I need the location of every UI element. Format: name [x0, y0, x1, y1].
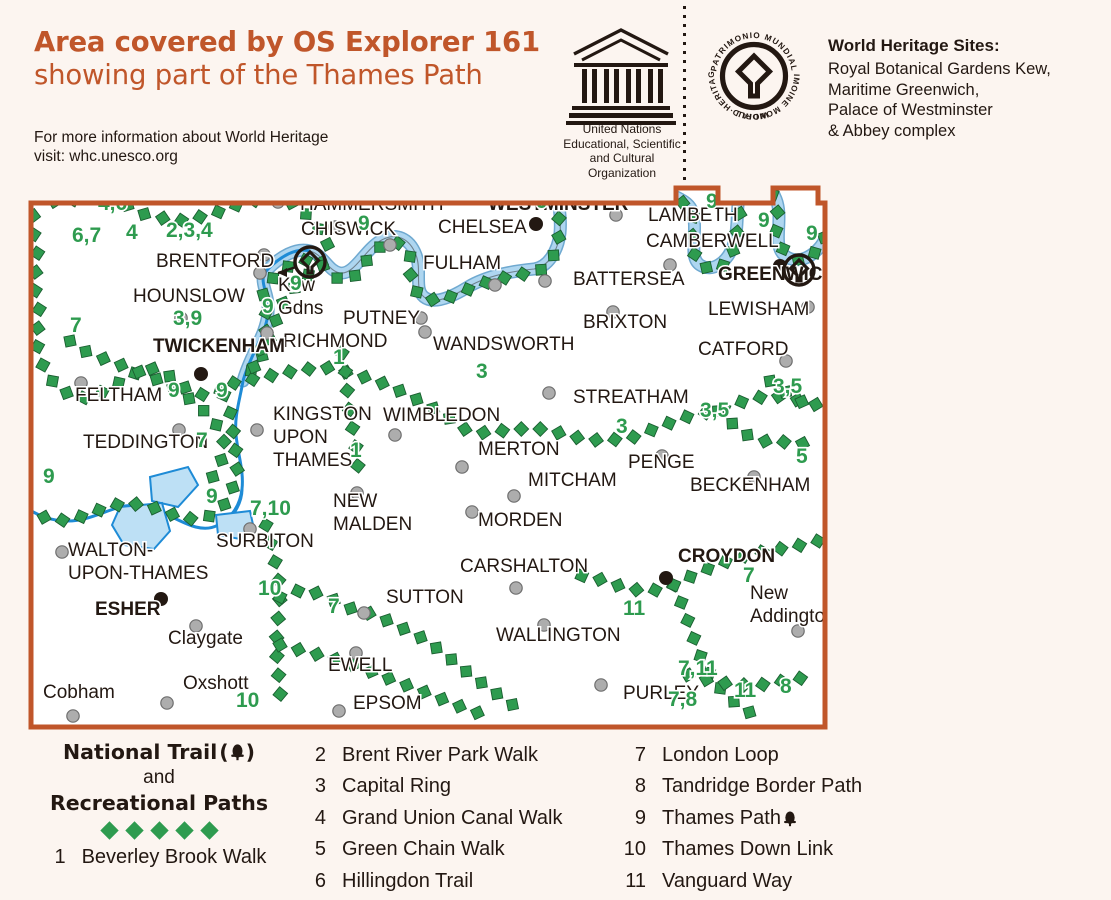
acorn-icon	[783, 810, 797, 828]
path-number-label: 9	[216, 379, 228, 402]
path-diamond	[332, 273, 342, 283]
map-legend: National Trail ( ) and Recreational Path…	[0, 736, 1111, 900]
place-label: PENGE	[628, 452, 695, 473]
path-diamond	[700, 261, 712, 273]
town-dot	[419, 326, 431, 338]
path-number-label: 7,8	[668, 688, 698, 711]
place-label: MORDEN	[478, 510, 562, 531]
place-label: Claygate	[168, 628, 243, 649]
legend-item-9[interactable]: 9Thames Path	[620, 803, 940, 834]
legend-item-number: 9	[620, 803, 646, 834]
path-diamond	[150, 373, 163, 386]
legend-column-2: 2Brent River Park Walk3Capital Ring4Gran…	[300, 740, 600, 897]
legend-item-label: Grand Union Canal Walk	[342, 803, 562, 834]
path-diamond	[742, 429, 754, 441]
legend-item-number: 5	[300, 834, 326, 865]
town-dot	[539, 275, 551, 287]
path-number-label: 7,10	[250, 497, 291, 520]
path-number-label: 11	[623, 597, 646, 620]
whs-site-1: Royal Botanical Gardens Kew,	[828, 59, 1100, 80]
path-number-label: 9	[168, 379, 180, 402]
path-number-label: 7	[328, 595, 340, 618]
town-dot	[384, 239, 396, 251]
place-label: SUTTON	[386, 587, 464, 608]
path-diamond	[491, 688, 503, 700]
town-dot	[161, 697, 173, 709]
header: Area covered by OS Explorer 161 showing …	[0, 0, 1111, 180]
world-heritage-sites-block: World Heritage Sites: Royal Botanical Ga…	[828, 36, 1100, 141]
path-diamond	[460, 666, 471, 677]
place-label: FELTHAM	[75, 385, 162, 406]
path-number-label: 5	[796, 445, 808, 468]
path-number-label: 9	[43, 465, 55, 488]
legend-item-number: 1	[52, 846, 66, 869]
place-label: BATTERSEA	[573, 269, 685, 290]
place-label: HOUNSLOW	[133, 286, 245, 307]
legend-item-number: 11	[620, 866, 646, 897]
legend-item-10[interactable]: 10Thames Down Link	[620, 834, 940, 865]
legend-item-2[interactable]: 2Brent River Park Walk	[300, 740, 600, 771]
legend-path-swatch	[28, 822, 290, 838]
path-number-label: 9	[262, 295, 274, 318]
legend-and-label: and	[28, 765, 290, 791]
place-label: CARSHALTON	[460, 556, 588, 577]
legend-item-label: London Loop	[662, 740, 779, 771]
place-label: SURBITON	[216, 531, 314, 552]
path-number-label: 3,5	[700, 399, 730, 422]
place-label: CROYDON	[678, 546, 775, 567]
path-diamond	[203, 510, 215, 522]
path-number-label: 6,7	[72, 224, 101, 247]
path-diamond	[349, 270, 361, 282]
place-label: UPON	[273, 427, 328, 448]
path-number-label: 9	[358, 212, 370, 235]
place-label: NEW	[333, 491, 377, 512]
path-diamond	[551, 185, 566, 188]
path-number-label: 7	[70, 314, 82, 337]
place-label: ESHER	[95, 599, 161, 620]
whs-site-4: & Abbey complex	[828, 121, 1100, 142]
map-panel: HAMMERSMITHCHISWICKCHELSEALAMBETHCAMBERW…	[28, 185, 828, 730]
legend-item-label: Capital Ring	[342, 771, 451, 802]
path-number-label: 2,3,4	[166, 219, 213, 242]
path-diamond	[739, 190, 749, 200]
page-title: Area covered by OS Explorer 161 showing …	[34, 26, 554, 92]
path-diamond	[80, 345, 92, 357]
path-number-label: 7,11	[678, 657, 718, 680]
path-number-label: 9	[290, 272, 302, 295]
place-label: EPSOM	[353, 693, 422, 714]
path-number-label: 3,9	[173, 307, 202, 330]
whs-heading: World Heritage Sites:	[828, 36, 1100, 56]
town-dot	[67, 710, 79, 722]
town-dot	[489, 279, 501, 291]
legend-item-7[interactable]: 7London Loop	[620, 740, 940, 771]
unesco-caption: United Nations Educational, Scientific a…	[560, 122, 684, 180]
title-line-2: showing part of the Thames Path	[34, 58, 554, 92]
legend-item-number: 8	[620, 771, 646, 802]
legend-diamond	[100, 821, 118, 839]
legend-item-number: 3	[300, 771, 326, 802]
legend-item-1[interactable]: 1 Beverley Brook Walk	[28, 846, 290, 869]
path-diamond	[84, 188, 98, 202]
path-diamond	[430, 642, 442, 654]
place-label: PUTNEY	[343, 308, 420, 329]
legend-diamond	[175, 821, 193, 839]
legend-item-4[interactable]: 4Grand Union Canal Walk	[300, 803, 600, 834]
town-dot	[333, 705, 345, 717]
legend-item-11[interactable]: 11Vanguard Way	[620, 866, 940, 897]
path-number-label: 8	[780, 675, 792, 698]
path-diamond	[743, 706, 756, 719]
place-label: BRENTFORD	[156, 251, 274, 272]
town-dot	[595, 679, 607, 691]
place-label: CHISWICK	[301, 219, 396, 240]
path-diamond	[410, 393, 423, 406]
path-number-label: 9	[206, 485, 218, 508]
legend-item-label: Thames Path	[662, 803, 797, 834]
place-label: LEWISHAM	[708, 299, 809, 320]
legend-item-6[interactable]: 6Hillingdon Trail	[300, 866, 600, 897]
path-number-label: 1	[350, 439, 362, 462]
path-diamond	[446, 654, 457, 665]
legend-item-label: Beverley Brook Walk	[82, 846, 267, 869]
place-label: EWELL	[328, 655, 392, 676]
legend-item-number: 7	[620, 740, 646, 771]
whs-site-3: Palace of Westminster	[828, 100, 1100, 121]
path-number-label: 10	[236, 689, 259, 712]
major-town-dot	[659, 571, 673, 585]
path-number-label: 3	[616, 415, 628, 438]
path-diamond	[536, 264, 547, 275]
legend-diamond	[150, 821, 168, 839]
town-dot	[510, 582, 522, 594]
path-diamond	[183, 393, 195, 405]
legend-item-5[interactable]: 5Green Chain Walk	[300, 834, 600, 865]
legend-item-label: Hillingdon Trail	[342, 866, 473, 897]
path-diamond	[206, 470, 219, 483]
place-label: BRIXTON	[583, 312, 667, 333]
place-label: CATFORD	[698, 339, 788, 360]
path-diamond	[361, 255, 373, 267]
path-diamond	[548, 250, 559, 261]
place-label: Gdns	[278, 298, 323, 319]
path-diamond	[751, 185, 765, 191]
town-dot	[466, 506, 478, 518]
place-label: LAMBETH	[648, 205, 738, 226]
place-label: GREENWICH	[718, 264, 828, 285]
place-label: BECKENHAM	[690, 475, 810, 496]
legend-item-3[interactable]: 3Capital Ring	[300, 771, 600, 802]
place-label: WANDSWORTH	[433, 334, 574, 355]
legend-column-3: 7London Loop8Tandridge Border Path9Thame…	[620, 740, 940, 897]
path-diamond	[650, 185, 663, 187]
legend-item-label: Green Chain Walk	[342, 834, 505, 865]
path-number-label: 9	[806, 222, 818, 245]
legend-item-label: Vanguard Way	[662, 866, 792, 897]
major-town-dot	[529, 217, 543, 231]
town-dot	[389, 429, 401, 441]
path-number-label: 10	[258, 577, 281, 600]
world-heritage-emblem-icon: · PATRIMONIO MUNDIAL · PATRIMOINE MONDIA…	[700, 18, 808, 126]
path-number-label: 9	[758, 209, 770, 232]
path-diamond	[210, 419, 222, 431]
whs-site-2: Maritime Greenwich,	[828, 80, 1100, 101]
path-number-label: 7	[743, 564, 755, 587]
place-label: CAMBERWELL	[646, 231, 779, 252]
place-label: WALLINGTON	[496, 625, 621, 646]
legend-item-number: 10	[620, 834, 646, 865]
town-dot	[456, 461, 468, 473]
legend-item-number: 4	[300, 803, 326, 834]
unesco-info-text: For more information about World Heritag…	[34, 128, 354, 166]
place-label: THAMES	[273, 450, 352, 471]
legend-heading-column: National Trail ( ) and Recreational Path…	[28, 740, 290, 869]
legend-item-8[interactable]: 8Tandridge Border Path	[620, 771, 940, 802]
place-label: New	[750, 583, 788, 604]
path-diamond	[411, 286, 423, 298]
path-number-label: 3	[476, 360, 488, 383]
path-number-label: 7	[196, 429, 208, 452]
path-diamond	[808, 246, 821, 259]
header-dotted-divider	[683, 6, 686, 180]
legend-diamond	[200, 821, 218, 839]
town-dot	[56, 546, 68, 558]
legend-item-label: Thames Down Link	[662, 834, 833, 865]
path-number-label: 3,5	[773, 375, 803, 398]
place-label: WALTON-	[68, 540, 153, 561]
title-line-1: Area covered by OS Explorer 161	[34, 26, 554, 58]
legend-heading-national-trail: National Trail ( )	[28, 740, 290, 765]
place-label: TWICKENHAM	[153, 336, 285, 357]
legend-diamond	[125, 821, 143, 839]
place-label: WIMBLEDON	[383, 405, 500, 426]
place-label: MITCHAM	[528, 470, 617, 491]
town-dot	[543, 387, 555, 399]
place-label: KINGSTON	[273, 404, 372, 425]
legend-item-number: 6	[300, 866, 326, 897]
town-dot	[251, 424, 263, 436]
town-dot	[508, 490, 520, 502]
legend-national-trail-label: National Trail	[63, 740, 217, 765]
major-town-dot	[194, 367, 208, 381]
path-diamond	[138, 208, 151, 221]
place-label: MERTON	[478, 439, 560, 460]
town-dot	[358, 607, 370, 619]
path-number-label: 11	[734, 679, 757, 702]
legend-item-label: Tandridge Border Path	[662, 771, 862, 802]
place-label: UPON-THAMES	[68, 563, 208, 584]
path-number-label: 1	[333, 346, 345, 369]
path-diamond	[506, 698, 518, 710]
path-diamond	[199, 406, 209, 416]
legend-item-number: 2	[300, 740, 326, 771]
place-label: Addington	[750, 606, 828, 627]
path-diamond	[46, 375, 58, 387]
legend-heading-recreational-paths: Recreational Paths	[28, 791, 290, 816]
place-label: Cobham	[43, 682, 115, 703]
place-label: TEDDINGTON	[83, 432, 208, 453]
legend-item-label: Brent River Park Walk	[342, 740, 538, 771]
unesco-logo-icon	[566, 24, 676, 129]
place-label: CHELSEA	[438, 217, 527, 238]
place-label: FULHAM	[423, 253, 501, 274]
path-diamond	[404, 251, 416, 263]
place-label: STREATHAM	[573, 387, 689, 408]
path-number-label: 4	[126, 221, 138, 244]
path-diamond	[475, 677, 487, 689]
acorn-icon: ( )	[219, 740, 255, 765]
place-label: MALDEN	[333, 514, 412, 535]
